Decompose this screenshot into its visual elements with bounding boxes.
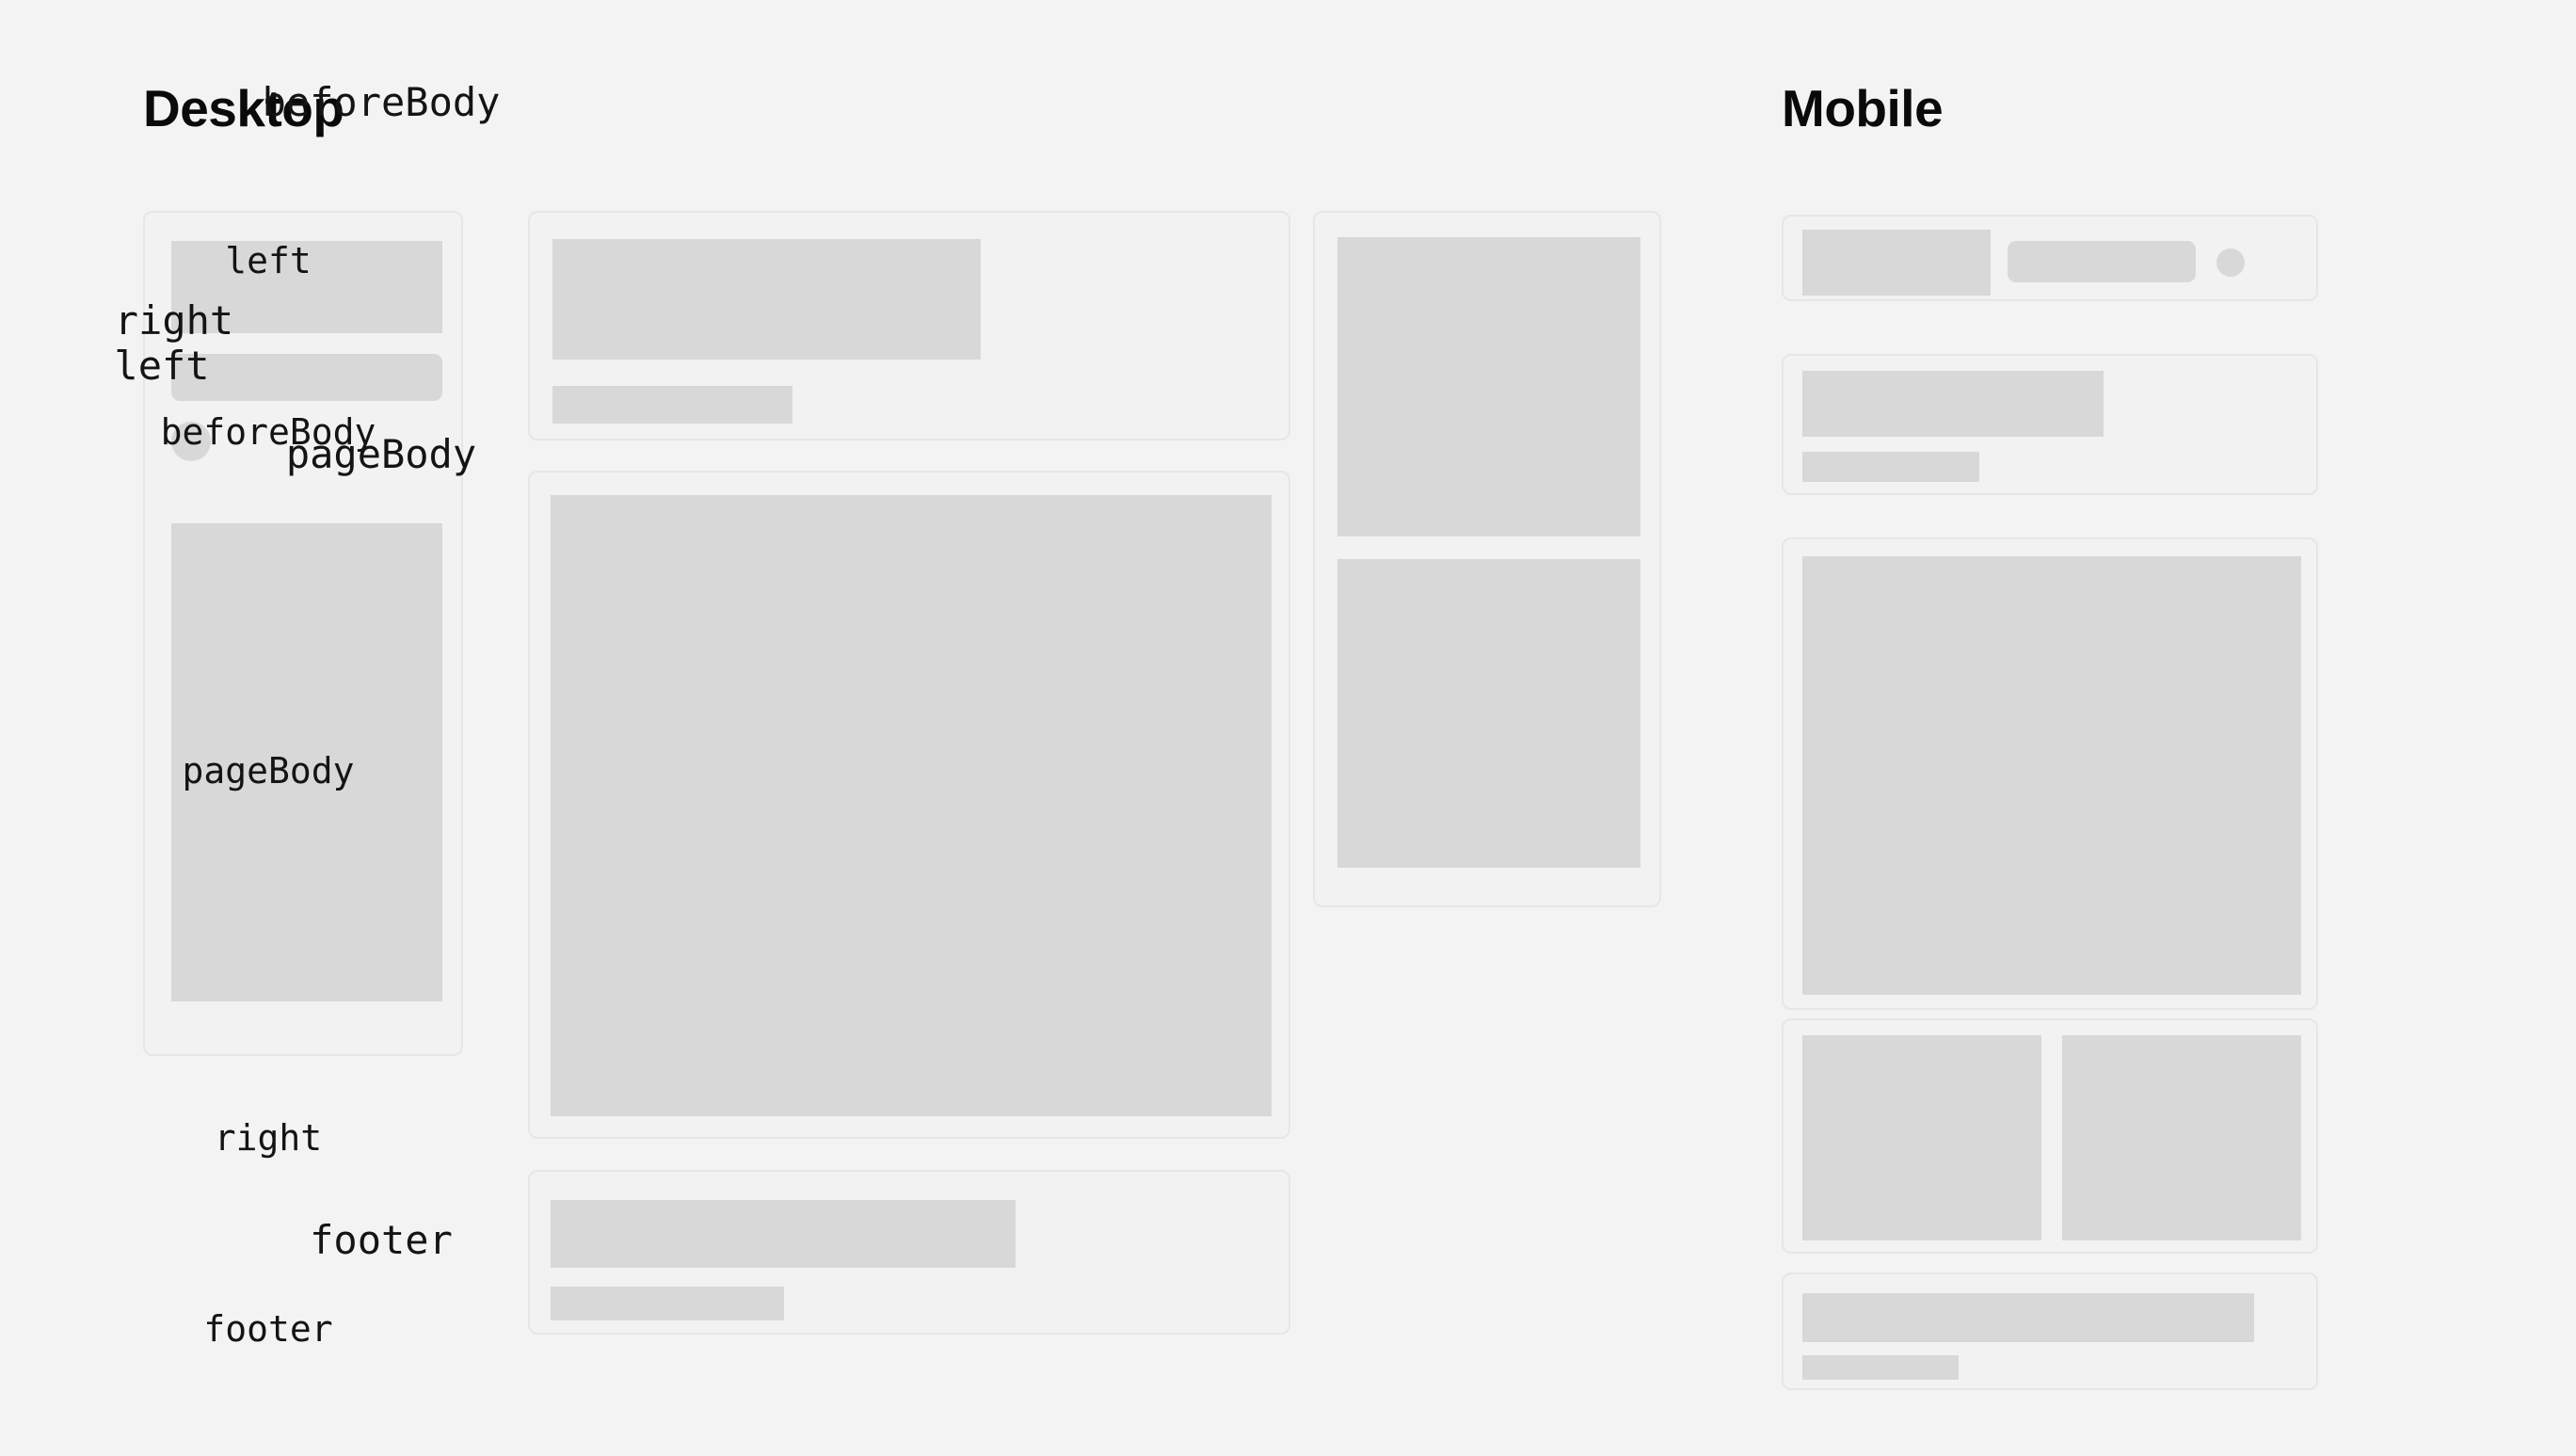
wireframe-canvas: Desktop left beforeBody pageBody right f… bbox=[0, 0, 2576, 1456]
placeholder-block-wide bbox=[552, 239, 981, 360]
placeholder-block-square bbox=[1802, 230, 1991, 296]
desktop-page-body-slot-card[interactable] bbox=[528, 471, 1290, 1139]
mobile-before-body-slot-card[interactable] bbox=[1782, 354, 2318, 495]
placeholder-bar-short bbox=[552, 386, 792, 424]
mobile-left-slot-card[interactable] bbox=[1782, 215, 2318, 301]
desktop-before-body-slot-label: beforeBody bbox=[0, 83, 762, 122]
desktop-left-slot-card[interactable] bbox=[143, 211, 463, 1056]
placeholder-bar-rounded bbox=[171, 354, 442, 401]
mobile-page-body-slot-card[interactable] bbox=[1782, 537, 2318, 1010]
placeholder-bar-short bbox=[1802, 452, 1979, 482]
placeholder-block-wide bbox=[1802, 371, 2104, 437]
placeholder-bar-wide bbox=[1802, 1293, 2254, 1342]
desktop-right-slot-card[interactable] bbox=[1313, 211, 1661, 907]
mobile-right-slot-label: right bbox=[0, 1120, 536, 1156]
placeholder-dot-circle bbox=[171, 422, 211, 461]
placeholder-dot-circle bbox=[2216, 248, 2245, 277]
placeholder-block-bottom bbox=[1337, 559, 1640, 868]
mobile-footer-slot-label: footer bbox=[0, 1311, 536, 1347]
placeholder-bar-short bbox=[551, 1287, 784, 1320]
desktop-footer-slot-card[interactable] bbox=[528, 1170, 1290, 1335]
mobile-section-title: Mobile bbox=[1782, 83, 1943, 135]
placeholder-block-large bbox=[171, 241, 442, 333]
placeholder-bar-wide bbox=[551, 1200, 1016, 1268]
placeholder-block-left bbox=[1802, 1035, 2041, 1240]
placeholder-block-fill bbox=[551, 495, 1272, 1116]
desktop-before-body-slot-card[interactable] bbox=[528, 211, 1290, 440]
desktop-section-title: Desktop bbox=[143, 83, 344, 135]
mobile-footer-slot-card[interactable] bbox=[1782, 1272, 2318, 1390]
placeholder-block-right bbox=[2062, 1035, 2301, 1240]
placeholder-bar-short bbox=[1802, 1355, 1959, 1380]
placeholder-block-top bbox=[1337, 237, 1640, 536]
mobile-right-slot-card[interactable] bbox=[1782, 1018, 2318, 1254]
placeholder-block-tall bbox=[171, 523, 442, 1001]
placeholder-bar-rounded bbox=[2008, 241, 2196, 282]
placeholder-block-fill bbox=[1802, 556, 2301, 995]
